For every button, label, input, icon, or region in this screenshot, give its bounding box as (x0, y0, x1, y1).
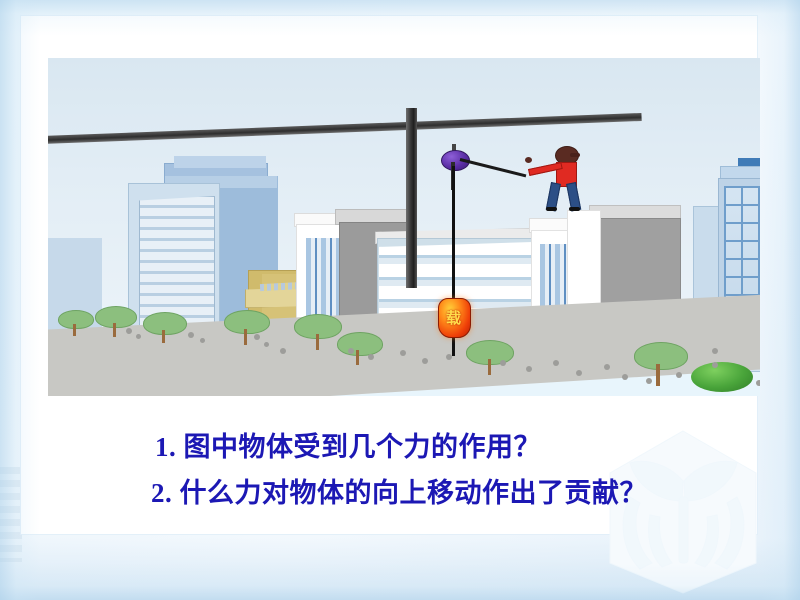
tree-trunk (244, 329, 247, 345)
tree-canopy (337, 332, 383, 356)
pavement-rock (622, 374, 628, 380)
worker-hand (525, 157, 532, 163)
pavement-rock (254, 334, 260, 340)
pavement-rock (200, 338, 205, 343)
city-hoist-illustration: 载 (48, 58, 760, 396)
pavement-rock (188, 332, 194, 338)
pavement-rock (756, 380, 760, 386)
tree-canopy (143, 312, 187, 335)
bottom-gradient-watermark (0, 538, 800, 600)
worker-shoe (569, 207, 580, 211)
tree-canopy (95, 306, 137, 328)
tree-trunk (356, 350, 359, 365)
tree-trunk (162, 330, 165, 343)
pavement-rock (400, 350, 406, 356)
pavement-rock (676, 372, 682, 378)
worker-shoe (546, 207, 557, 211)
pavement-rock (368, 354, 374, 360)
pavement-rock (712, 362, 718, 368)
pavement-rock (348, 348, 354, 354)
tree-canopy (634, 342, 688, 370)
pavement-rock (126, 328, 132, 334)
pavement-rock (576, 370, 582, 376)
pavement-rock (553, 360, 559, 366)
pavement-rock (712, 348, 718, 354)
pavement-rock (500, 360, 506, 366)
tree-trunk (316, 334, 319, 350)
tree-trunk (656, 364, 660, 386)
tree-canopy (58, 310, 94, 329)
question-line-1: 1. 图中物体受到几个力的作用？ (0, 424, 800, 470)
pavement-rock (136, 334, 141, 339)
building-blue-tower-roofbox-top (174, 156, 266, 168)
question-line-2: 2. 什么力对物体的向上移动作出了贡献？ (0, 470, 800, 516)
pavement-rock (264, 342, 269, 347)
pavement-rock (280, 348, 286, 354)
tree-canopy (224, 310, 270, 334)
tree-trunk (73, 324, 76, 336)
worker-cap-brim (570, 153, 580, 157)
tree-trunk (488, 359, 491, 375)
crane-pole (406, 108, 417, 288)
tree-trunk (113, 323, 116, 337)
pavement-rock (646, 378, 652, 384)
green-dome-bush (691, 362, 753, 392)
pavement-rock (604, 364, 610, 370)
slide-canvas: 载 1. 图中物体受到几个力的作用？ 2. 什么力对物体的向上移动作出了贡献？ (0, 0, 800, 600)
load-label: 载 (438, 298, 469, 336)
pavement-rock (422, 358, 428, 364)
pavement-rock (526, 366, 532, 372)
question-list: 1. 图中物体受到几个力的作用？ 2. 什么力对物体的向上移动作出了贡献？ (0, 424, 800, 516)
